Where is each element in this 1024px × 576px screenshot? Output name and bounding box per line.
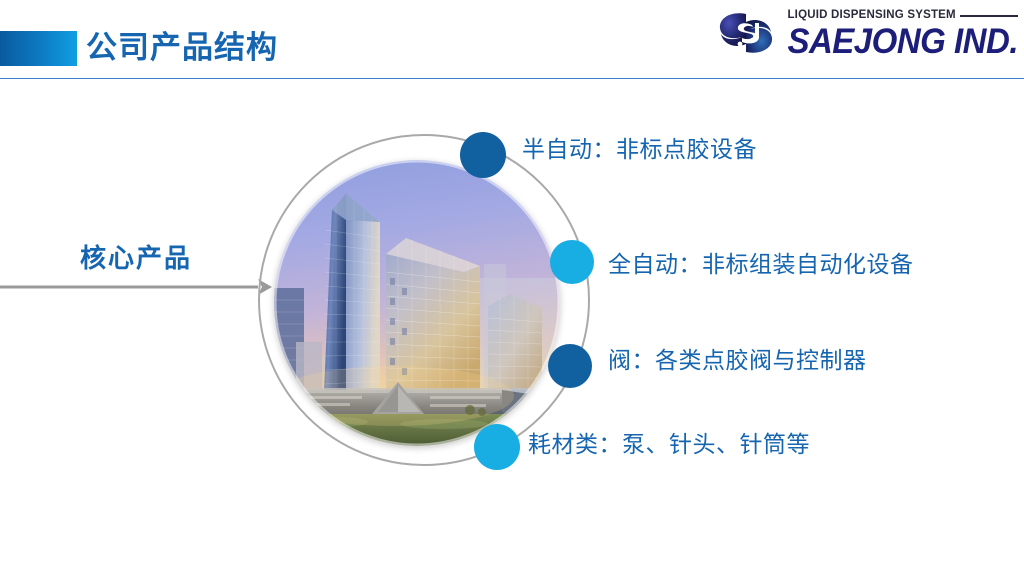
callout-valve: 阀：各类点胶阀与控制器	[608, 344, 1008, 376]
marker-dot-consumables[interactable]	[474, 424, 520, 470]
flow-arrow-icon	[0, 273, 272, 301]
sj-swirl-emblem-icon	[715, 8, 777, 58]
logo-wordmark: LIQUID DISPENSING SYSTEM SAEJONG IND.	[787, 10, 1018, 56]
logo-name: SAEJONG IND.	[787, 23, 1018, 59]
core-product-label: 核心产品	[80, 238, 192, 275]
callout-semi-auto: 半自动：非标点胶设备	[522, 133, 952, 165]
callout-consumables: 耗材类：泵、针头、针筒等	[528, 428, 858, 460]
building-photo-circle	[274, 160, 560, 446]
callout-full-auto: 全自动：非标组装自动化设备	[608, 248, 918, 280]
title-accent-bar	[0, 31, 77, 66]
marker-dot-valve[interactable]	[548, 344, 592, 388]
header-divider	[0, 78, 1024, 79]
marker-dot-full-auto[interactable]	[550, 240, 594, 284]
product-structure-diagram	[252, 128, 596, 472]
page-title: 公司产品结构	[86, 26, 278, 70]
brand-logo: LIQUID DISPENSING SYSTEM SAEJONG IND.	[715, 8, 1018, 58]
logo-tagline-rule	[960, 15, 1018, 17]
marker-dot-semi-auto[interactable]	[460, 132, 506, 178]
